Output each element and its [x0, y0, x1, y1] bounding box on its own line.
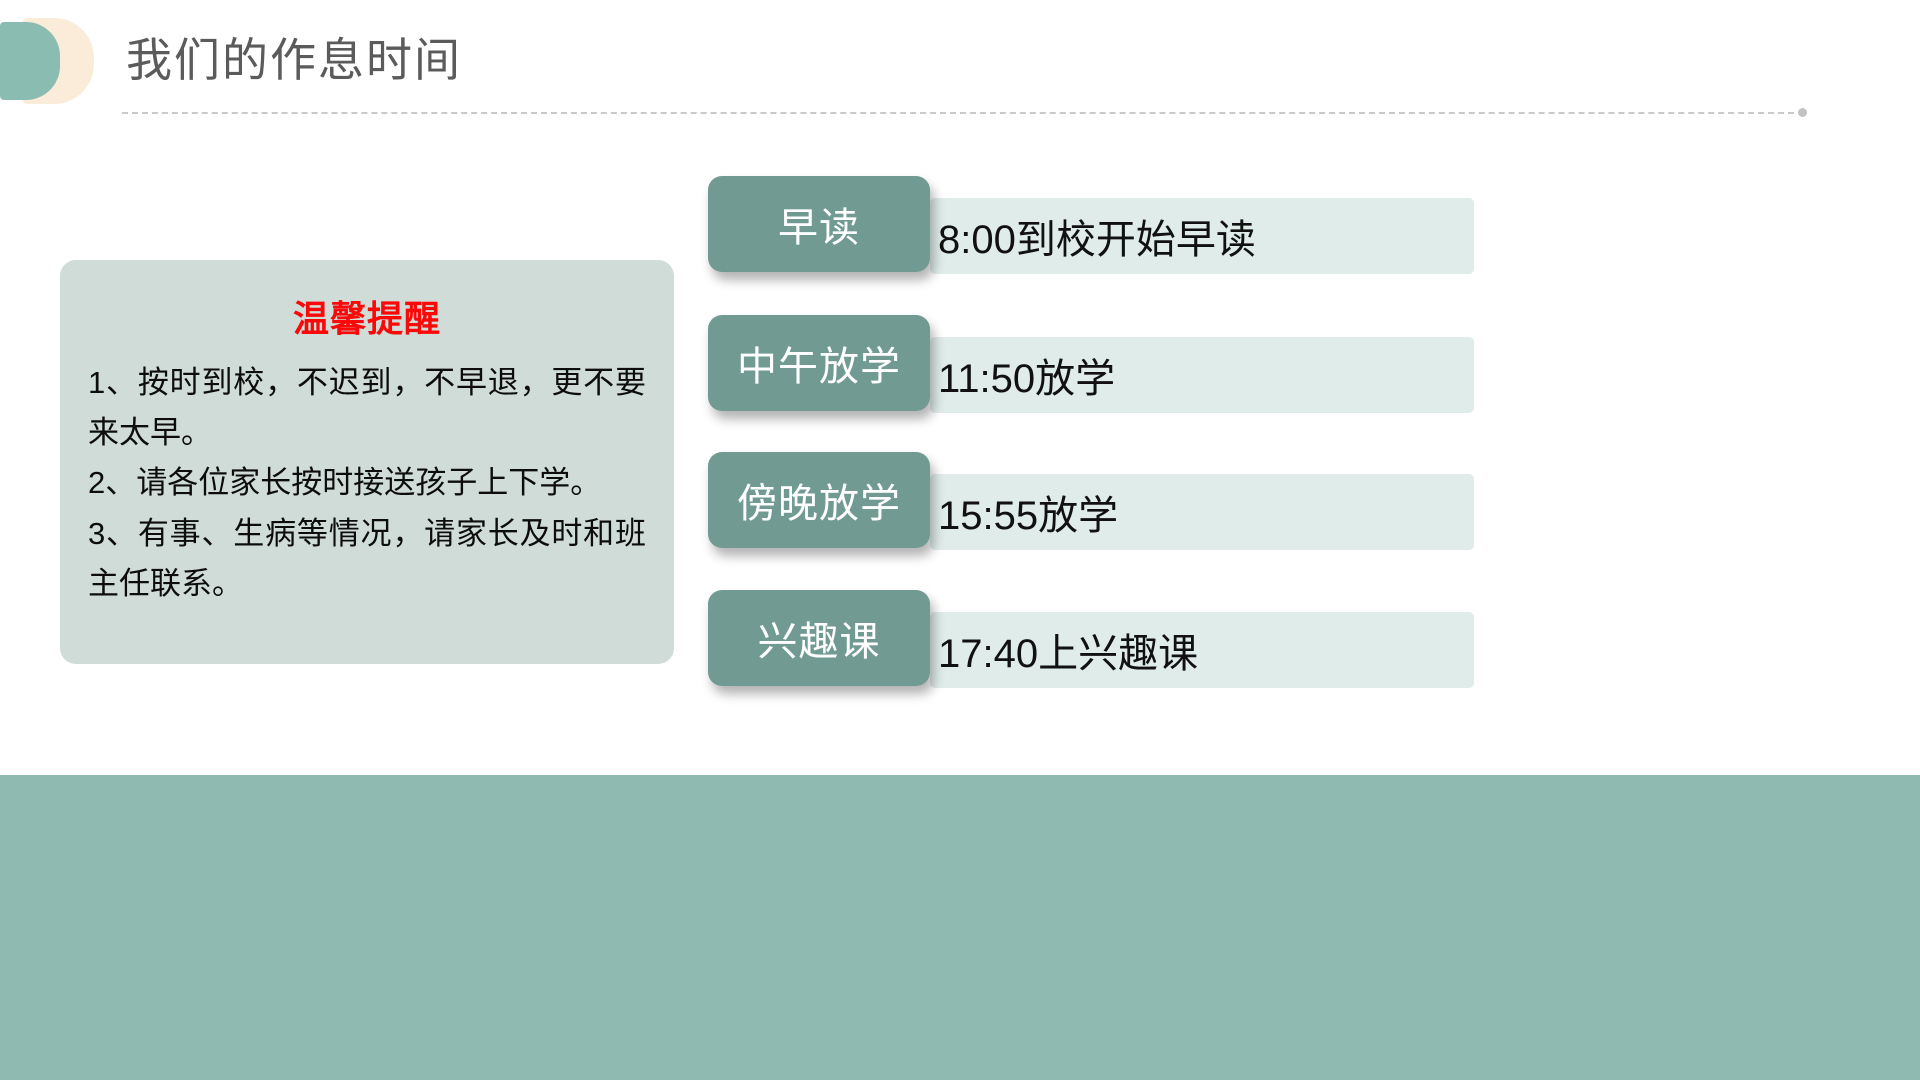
- footer-band: [0, 775, 1920, 1080]
- schedule-label-text: 中午放学: [737, 334, 901, 392]
- schedule-label-text: 早读: [778, 195, 860, 253]
- schedule-label-chip: 早读: [708, 176, 930, 272]
- schedule-time-bar: 17:40上兴趣课: [930, 612, 1474, 688]
- schedule-time-bar: 8:00到校开始早读: [930, 198, 1474, 274]
- schedule-label-chip: 中午放学: [708, 315, 930, 411]
- schedule-time-text: 15:55放学: [930, 483, 1118, 541]
- schedule-label-chip: 兴趣课: [708, 590, 930, 686]
- schedule-time-bar: 11:50放学: [930, 337, 1474, 413]
- schedule-time-text: 17:40上兴趣课: [930, 621, 1198, 679]
- schedule-time-text: 11:50放学: [930, 346, 1115, 404]
- schedule-time-bar: 15:55放学: [930, 474, 1474, 550]
- schedule-time-text: 8:00到校开始早读: [930, 207, 1256, 265]
- schedule-label-text: 兴趣课: [758, 609, 881, 667]
- schedule-label-text: 傍晚放学: [737, 471, 901, 529]
- schedule-label-chip: 傍晚放学: [708, 452, 930, 548]
